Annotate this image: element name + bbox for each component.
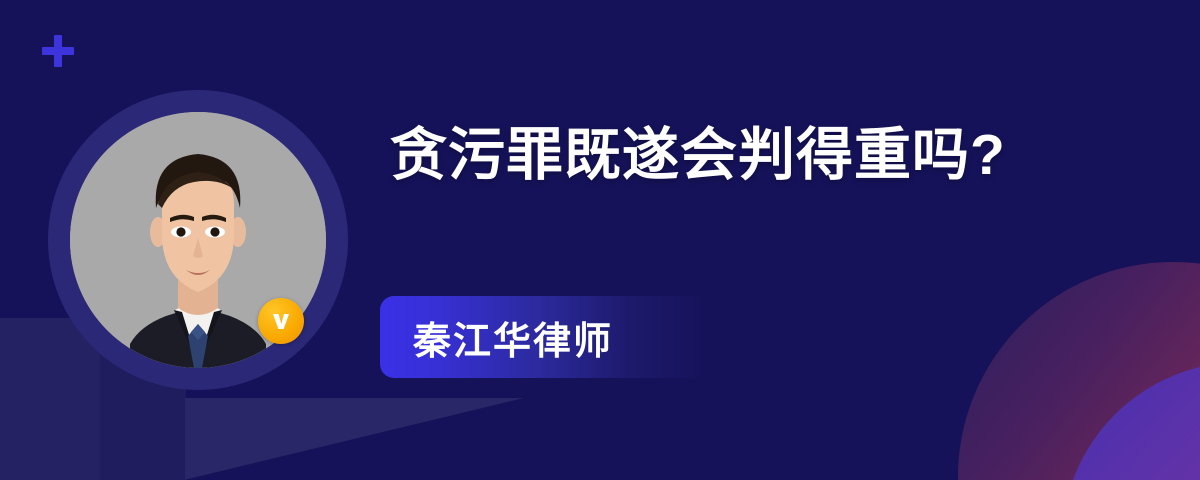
lawyer-name-label: 秦江华律师 [380, 310, 613, 365]
plus-icon [40, 33, 76, 69]
lawyer-name-badge[interactable]: 秦江华律师 [380, 296, 708, 378]
avatar [48, 90, 348, 390]
glow-circle-crimson [958, 262, 1200, 480]
glow-circle-purple [1062, 362, 1200, 480]
lawyer-qa-banner: 贪污罪既遂会判得重吗? 秦江华律师 [0, 0, 1200, 480]
page-title: 贪污罪既遂会判得重吗? [390, 124, 1006, 188]
angled-triangle-wedge [185, 398, 525, 480]
verified-check-icon [258, 298, 304, 344]
